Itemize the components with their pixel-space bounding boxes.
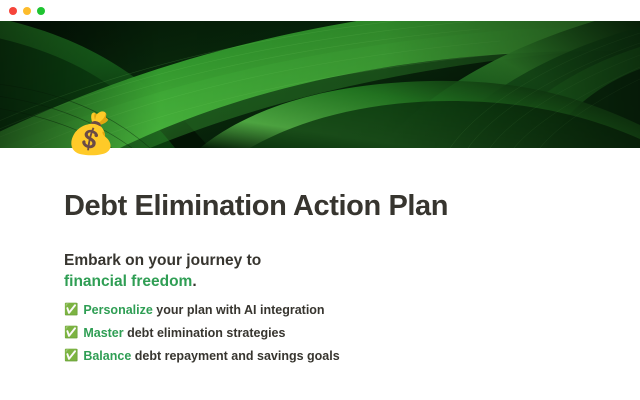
app-window: 💰 Debt Elimination Action Plan Embark on…: [0, 0, 640, 400]
check-mark-button-emoji: ✅: [64, 303, 78, 318]
list-item-text: Personalize your plan with AI integratio…: [83, 303, 324, 318]
page-title[interactable]: Debt Elimination Action Plan: [64, 148, 576, 223]
window-titlebar: [0, 0, 640, 21]
list-item-rest: debt repayment and savings goals: [131, 349, 339, 363]
list-item-text: Balance debt repayment and savings goals: [83, 349, 339, 364]
check-mark-button-emoji: ✅: [64, 349, 78, 364]
lede-suffix: .: [192, 273, 196, 290]
list-item-text: Master debt elimination strategies: [83, 326, 285, 341]
lede-prefix: Embark on your journey to: [64, 252, 261, 269]
page-body: 💰 Debt Elimination Action Plan Embark on…: [0, 148, 640, 400]
list-item-rest: your plan with AI integration: [153, 303, 325, 317]
page-content: Debt Elimination Action Plan Embark on y…: [0, 148, 640, 364]
maximize-window-button[interactable]: [37, 7, 45, 15]
list-item-accent: Balance: [83, 349, 131, 363]
lede-accent: financial freedom: [64, 273, 192, 290]
list-item-accent: Personalize: [83, 303, 152, 317]
list-item[interactable]: ✅ Balance debt repayment and savings goa…: [64, 341, 576, 364]
page-lede[interactable]: Embark on your journey to financial free…: [64, 223, 326, 292]
check-mark-button-emoji: ✅: [64, 326, 78, 341]
list-item-accent: Master: [83, 326, 123, 340]
list-item[interactable]: ✅ Personalize your plan with AI integrat…: [64, 292, 576, 318]
list-item[interactable]: ✅ Master debt elimination strategies: [64, 318, 576, 341]
close-window-button[interactable]: [9, 7, 17, 15]
list-item-rest: debt elimination strategies: [124, 326, 286, 340]
minimize-window-button[interactable]: [23, 7, 31, 15]
